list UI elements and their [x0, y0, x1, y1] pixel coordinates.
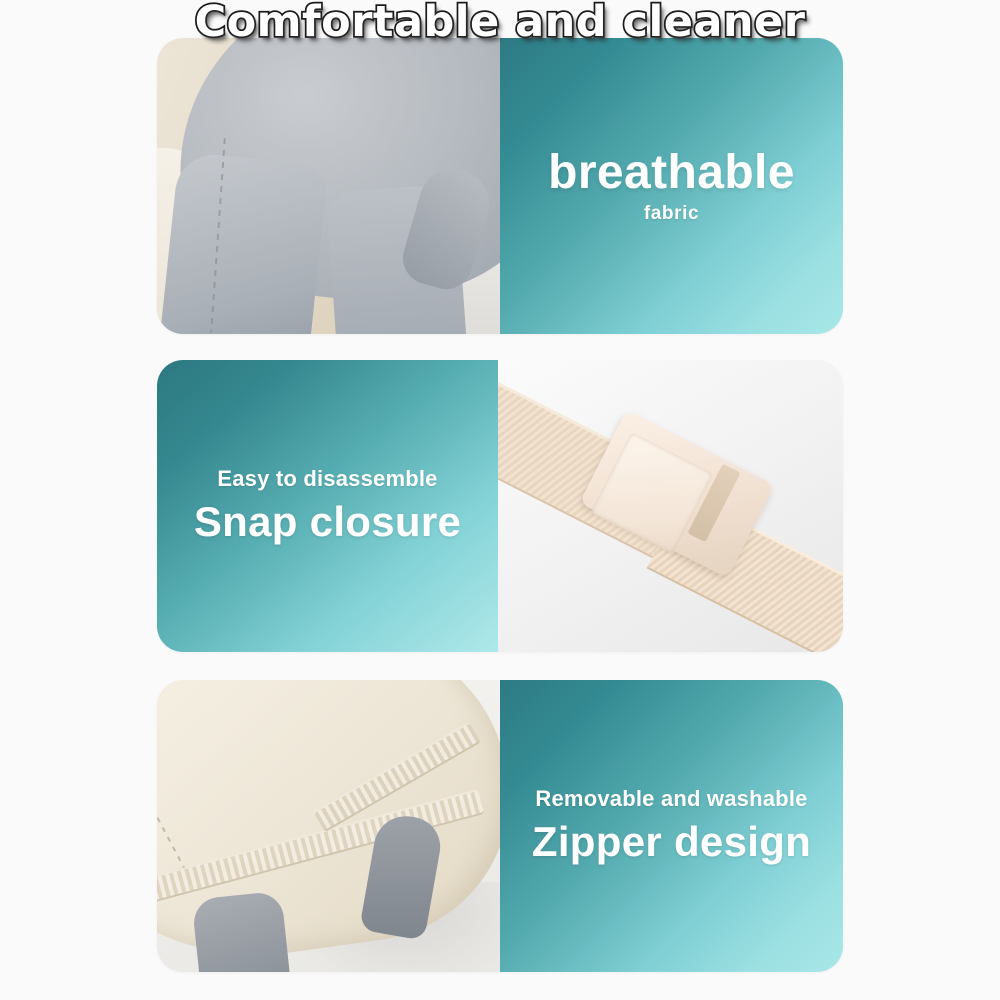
panel-2-eyebrow: Easy to disassemble: [217, 466, 437, 492]
photo-shape-grey-leg-left: [157, 151, 329, 334]
panel-1-headline: breathable: [548, 147, 795, 199]
panel-1-subline: fabric: [644, 203, 699, 225]
panel-3-caption-area: Removable and washable Zipper design: [500, 680, 843, 972]
panel-3-eyebrow: Removable and washable: [535, 786, 807, 812]
photo-shape-grey-leg-b: [191, 891, 292, 972]
panel-3-headline: Zipper design: [532, 818, 811, 866]
feature-panel-zipper-design: Removable and washable Zipper design: [157, 680, 843, 972]
cream-zipper-closeup-photo: [157, 680, 500, 972]
panel-1-caption-area: breathable fabric: [500, 38, 843, 334]
feature-panel-breathable-fabric: breathable fabric: [157, 38, 843, 334]
panel-2-caption-area: Easy to disassemble Snap closure: [157, 360, 498, 652]
panel-2-headline: Snap closure: [194, 498, 461, 546]
beige-strap-buckle-photo: [498, 360, 843, 652]
feature-panel-snap-closure: Easy to disassemble Snap closure: [157, 360, 843, 652]
grey-fabric-closeup-photo: [157, 38, 500, 334]
